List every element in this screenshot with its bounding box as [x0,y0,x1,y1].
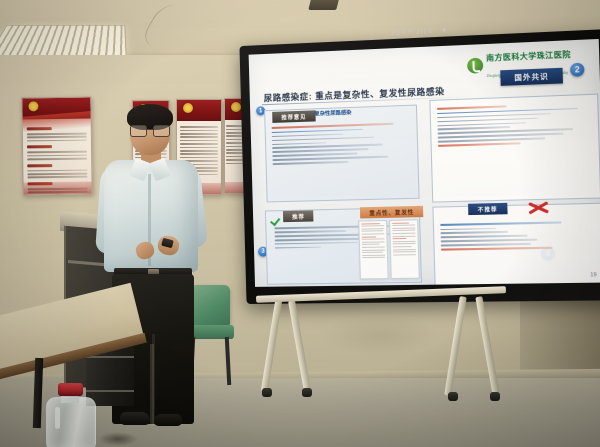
hospital-name-cn: 南方医科大学珠江医院 [486,50,571,63]
stand-caster [262,388,272,397]
display-screen[interactable]: 南方医科大学珠江医院 Zhujiang Hospital of Southern… [249,39,600,287]
panel-top-left-note: 复杂性尿路感染 [314,109,351,117]
check-icon [271,212,282,223]
poster-footer [24,182,92,194]
stand-caster [302,388,312,397]
lecture-room-photo: JGXY-JILE ▼ 南方医科大学珠江医院 Zhujiang Hospital… [0,0,600,447]
slide-page-number: 19 [590,272,597,278]
article-clipping-left [358,220,388,280]
panel-bottom-left-tag: 推荐 [283,210,314,222]
interactive-display[interactable]: JGXY-JILE ▼ 南方医科大学珠江医院 Zhujiang Hospital… [239,29,600,304]
presenter-shoe-right [154,414,182,426]
red-x-icon [527,198,549,219]
floor-shadow [98,432,138,446]
article-clipping-right [389,219,420,279]
step-badge-2: 2 [570,63,585,77]
panel-bottom-right [432,203,600,287]
bottle-body [46,397,96,447]
wifi-icon: ▼ [441,27,450,35]
section-banner: 国外共识 [500,68,563,86]
panel-top-left-tag: 推荐意见 [272,110,315,123]
center-banner: 重点性、复发性 [360,206,424,219]
party-emblem-icon [231,102,241,112]
presenter-shoe-left [120,412,150,425]
panel-top-right: Clinical practice guideline for UTI cult… [429,94,600,203]
ceiling-crack [138,2,202,52]
water-bottle[interactable] [46,383,94,447]
ceiling-vent-icon [308,0,339,10]
poster-text-block [27,123,88,191]
bottle-highlight [55,407,60,429]
wall-scuff [320,315,440,355]
presentation-slide: 南方医科大学珠江医院 Zhujiang Hospital of Southern… [249,39,600,287]
trouser-gap [150,344,154,426]
display-brand-label: JGXY-JILE [391,28,435,36]
party-emblem-icon [28,101,38,111]
glasses-icon [130,125,170,135]
hospital-logo-mark-icon [467,57,483,73]
bottle-cap[interactable] [58,383,83,396]
stand-caster [490,392,500,401]
party-poster-left [21,97,92,196]
panel-bottom-right-tag: 不推荐 [468,203,507,215]
stand-caster [448,392,458,401]
